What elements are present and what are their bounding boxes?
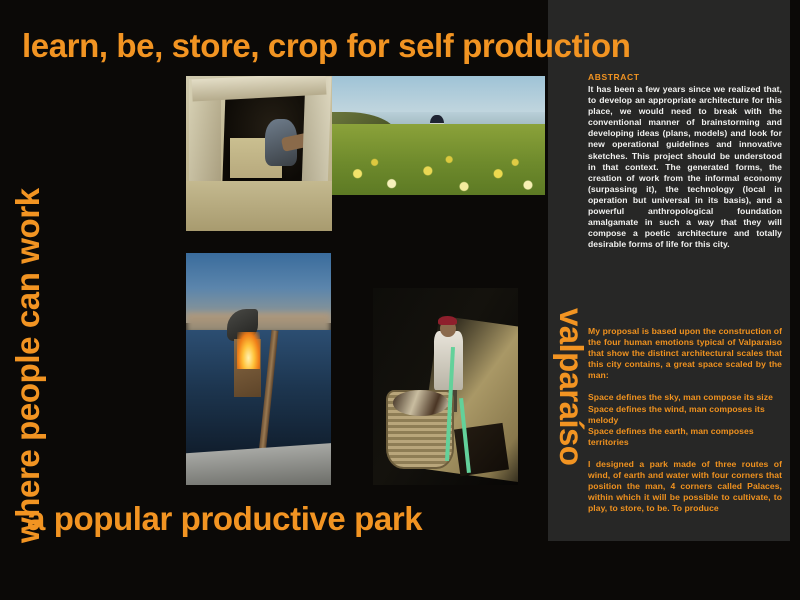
photo-burning-torch-over-sea	[186, 253, 331, 485]
proposal-line-sky: Space defines the sky, man compose its s…	[588, 392, 782, 403]
photo-layer-flame	[237, 332, 260, 369]
proposal-line-earth: Space defines the earth, man composes te…	[588, 426, 782, 448]
proposal-closing: I designed a park made of three routes o…	[588, 459, 782, 514]
photo-concrete-opening-with-person	[186, 76, 332, 231]
photo-layer-sky	[186, 253, 331, 323]
photo-layer-ground	[186, 181, 332, 231]
headline-left-vertical: where people can work	[9, 73, 47, 543]
photo-person-in-yellow-flower-field	[332, 76, 545, 195]
proposal-block: My proposal is based upon the constructi…	[588, 326, 782, 514]
headline-bottom: a popular productive park	[27, 500, 422, 538]
proposal-line-wind: Space defines the wind, man composes its…	[588, 404, 782, 426]
abstract-block: ABSTRACT It has been a few years since w…	[588, 72, 782, 250]
spacer-2	[588, 448, 782, 459]
poster-canvas: learn, be, store, crop for self producti…	[0, 0, 800, 600]
headline-top: learn, be, store, crop for self producti…	[22, 27, 782, 65]
abstract-title: ABSTRACT	[588, 72, 782, 82]
spacer	[588, 381, 782, 392]
headline-valparaiso-vertical: valparaíso	[552, 308, 590, 538]
photo-layer-flowers	[332, 124, 545, 195]
proposal-intro: My proposal is based upon the constructi…	[588, 326, 782, 381]
photo-vendor-with-basket	[373, 288, 518, 485]
abstract-body: It has been a few years since we realize…	[588, 84, 782, 250]
photo-layer-red-cap	[438, 316, 457, 326]
